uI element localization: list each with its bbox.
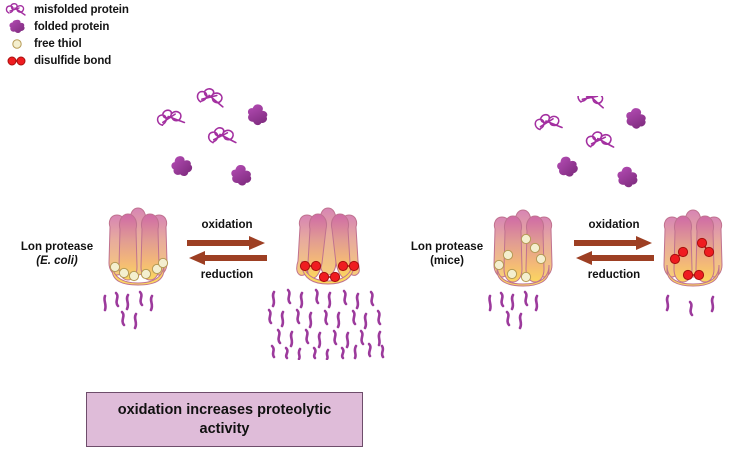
oxidation-reduction-arrow-pair (572, 233, 656, 267)
protease-mice-reduced (483, 207, 563, 292)
protease-mice-oxidized (653, 207, 733, 292)
substrate-protein-cloud (140, 84, 285, 201)
reaction-arrows-ecoli: oxidation reduction (181, 218, 273, 282)
caption-ecoli: oxidation increases proteolytic activity (86, 392, 363, 447)
reduction-label: reduction (181, 268, 273, 282)
oxidation-label: oxidation (181, 218, 273, 232)
protease-label-species: (mice) (404, 254, 490, 268)
protease-label-line1: Lon protease (14, 240, 100, 254)
panel-mice: Lon protease (mice) (390, 0, 735, 457)
reduction-label: reduction (568, 268, 660, 282)
reaction-arrows-mice: oxidation reduction (568, 218, 660, 282)
panel-ecoli: Lon protease (E. coli) (0, 0, 390, 457)
peptide-fragments-mice-oxidized (660, 292, 730, 337)
substrate-protein-cloud (518, 96, 663, 206)
protease-label-species: (E. coli) (14, 254, 100, 268)
protease-label-mice: Lon protease (mice) (404, 240, 490, 268)
peptide-fragments-ecoli-reduced (100, 290, 178, 341)
protease-ecoli-oxidized (288, 205, 368, 292)
peptide-fragments-mice-reduced (485, 290, 563, 341)
oxidation-label: oxidation (568, 218, 660, 232)
peptide-fragments-ecoli-oxidized (266, 288, 388, 365)
protease-label-line1: Lon protease (404, 240, 490, 254)
oxidation-reduction-arrow-pair (185, 233, 269, 267)
protease-ecoli-reduced (98, 205, 178, 292)
caption-text: oxidation increases proteolytic activity (95, 401, 354, 439)
protease-label-ecoli: Lon protease (E. coli) (14, 240, 100, 268)
